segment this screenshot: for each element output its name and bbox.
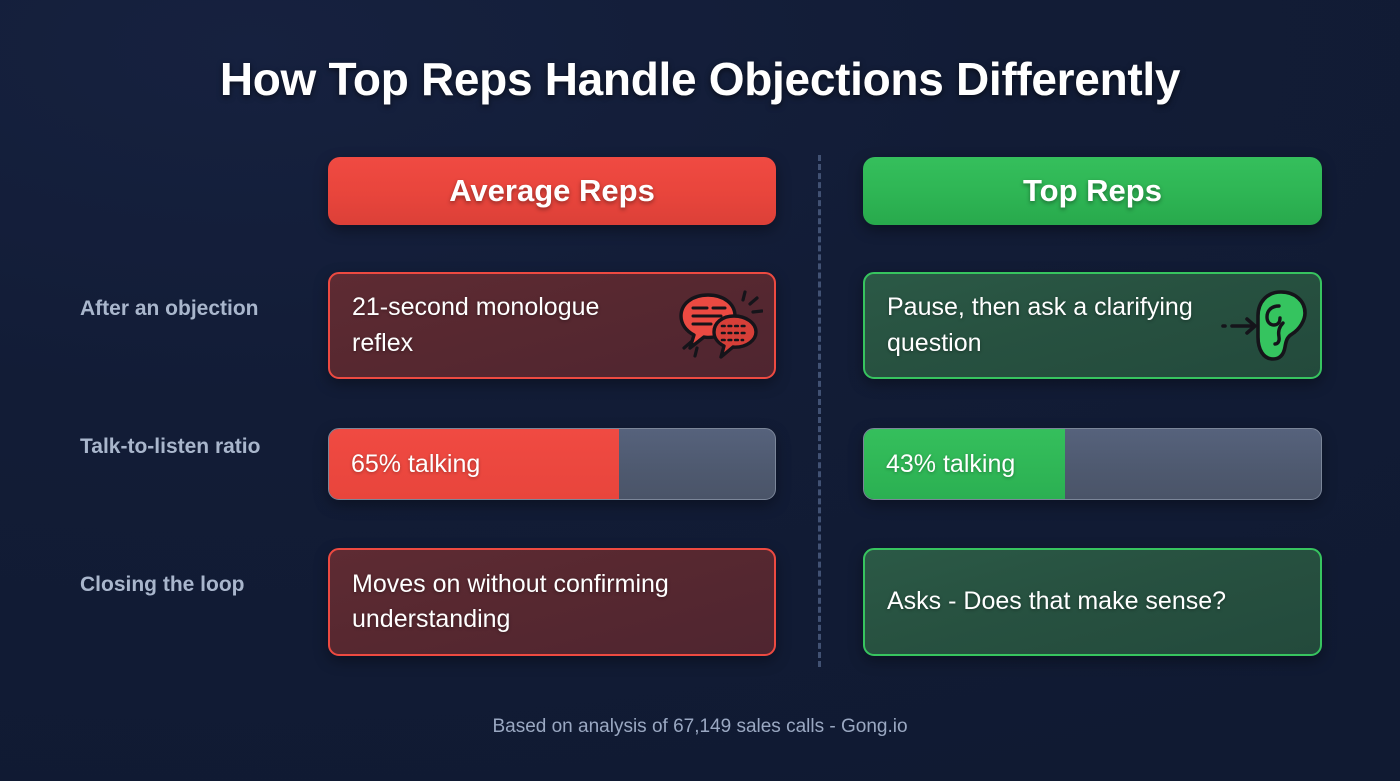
card-average-closing-loop: Moves on without confirming understandin… [328,548,776,656]
progress-track-top-talk-ratio: 43% talking [863,428,1322,500]
row-label-talk-to-listen-ratio: Talk-to-listen ratio [80,430,315,464]
speech-bubbles-icon [672,286,774,366]
card-text: Pause, then ask a clarifying question [865,290,1218,361]
row-label-closing-the-loop: Closing the loop [80,568,315,602]
card-text: Moves on without confirming understandin… [330,567,774,638]
card-average-after-objection: 21-second monologue reflex [328,272,776,379]
infographic-canvas: How Top Reps Handle Objections Different… [0,0,1400,781]
card-top-after-objection: Pause, then ask a clarifying question [863,272,1322,379]
card-text: 21-second monologue reflex [330,290,672,361]
column-header-label: Average Reps [449,173,655,209]
column-divider [818,155,821,667]
column-header-average-reps: Average Reps [328,157,776,225]
progress-label-average: 65% talking [329,450,480,479]
card-top-closing-loop: Asks - Does that make sense? [863,548,1322,656]
ear-listening-icon [1218,286,1320,366]
progress-fill-average: 65% talking [329,429,619,499]
card-text: Asks - Does that make sense? [865,584,1320,620]
progress-track-average-talk-ratio: 65% talking [328,428,776,500]
page-title: How Top Reps Handle Objections Different… [0,52,1400,106]
progress-label-top: 43% talking [864,450,1015,479]
column-header-label: Top Reps [1023,173,1162,209]
progress-fill-top: 43% talking [864,429,1065,499]
column-header-top-reps: Top Reps [863,157,1322,225]
row-label-after-an-objection: After an objection [80,292,315,326]
footer-source: Based on analysis of 67,149 sales calls … [0,716,1400,738]
